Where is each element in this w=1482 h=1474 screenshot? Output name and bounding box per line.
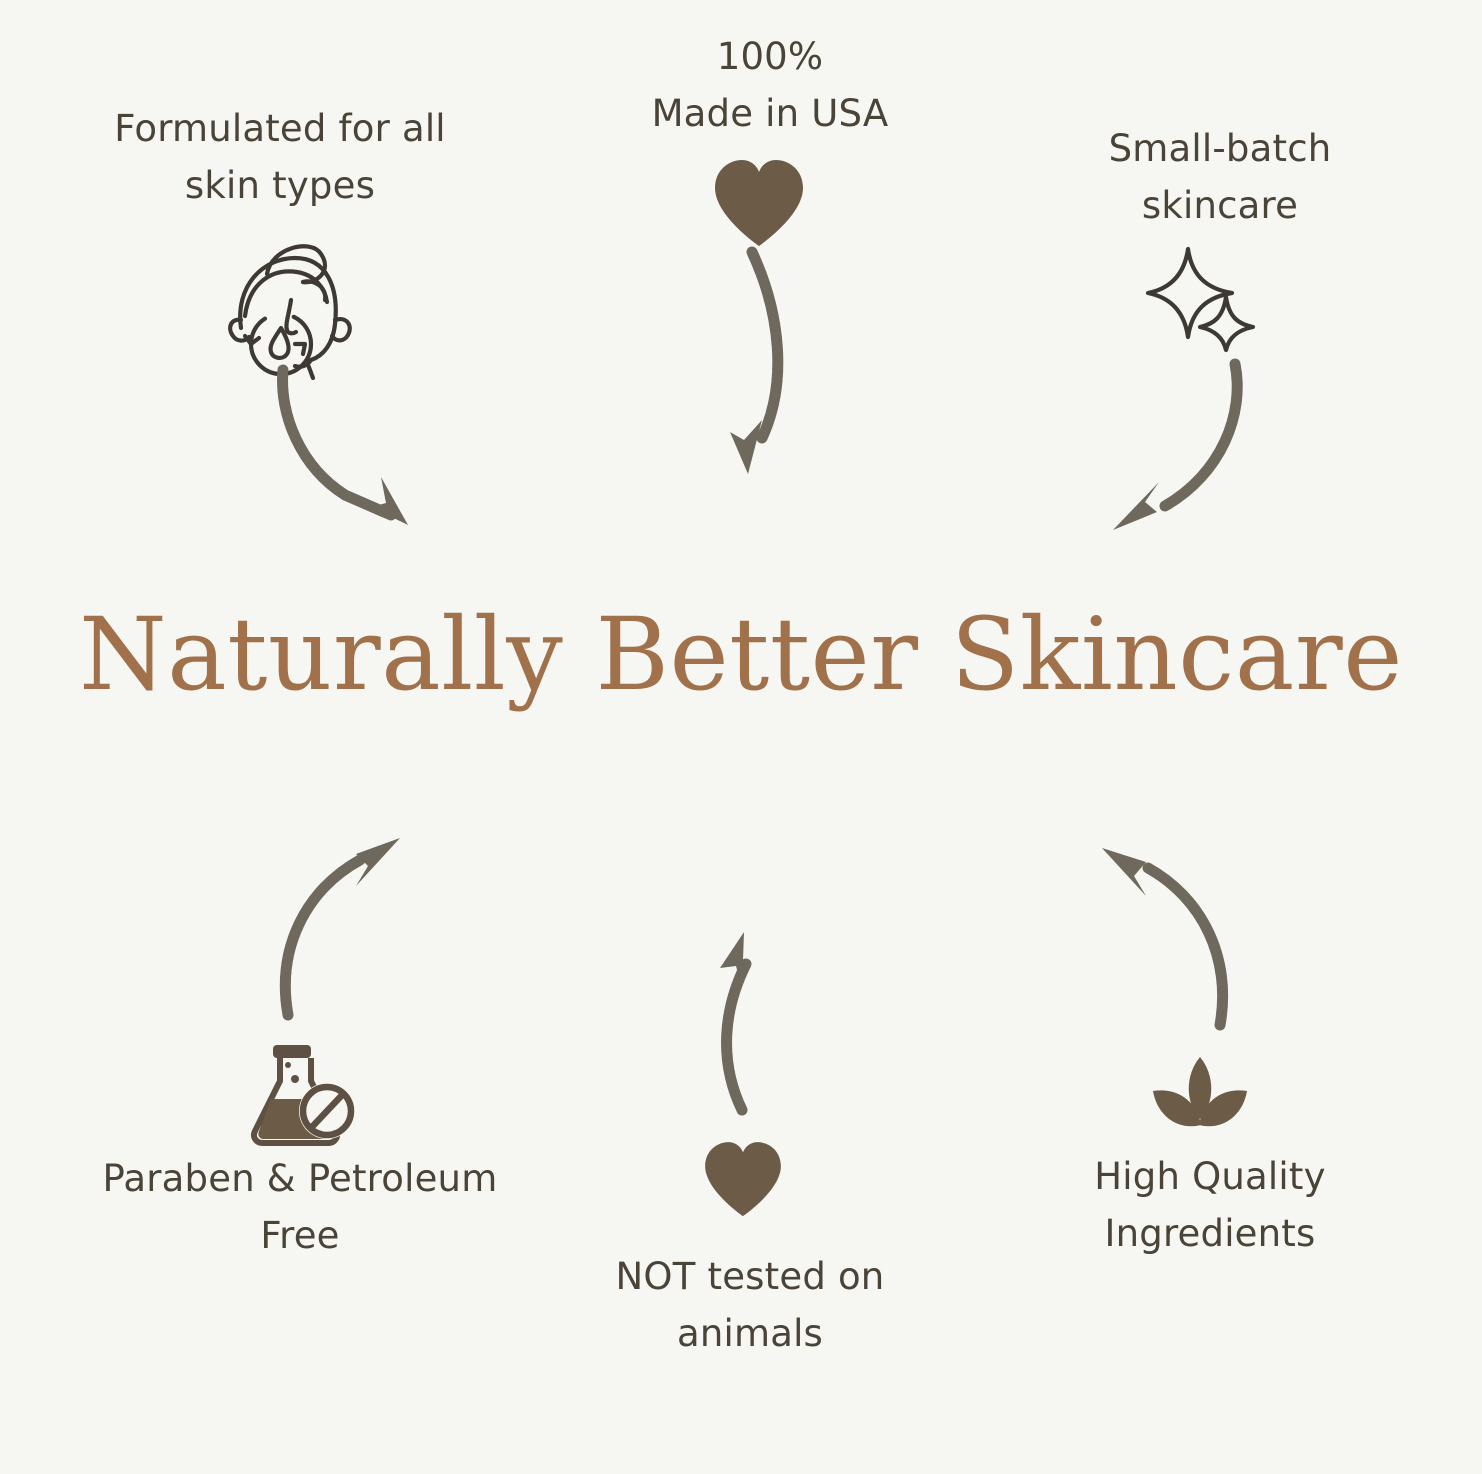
- feature-label-small-batch-skincare: Small-batch skincare: [1020, 120, 1420, 235]
- curved-arrow-up-icon: [688, 920, 808, 1125]
- sparkle-icon: [1150, 245, 1260, 350]
- curved-arrow-down-left-icon: [1085, 350, 1285, 555]
- page-title: Naturally Better Skincare: [0, 600, 1482, 710]
- feature-label-high-quality-ingredients: High Quality Ingredients: [1010, 1148, 1410, 1263]
- flask-prohibited-icon: [248, 1043, 360, 1147]
- infographic-canvas: Formulated for all skin types: [0, 0, 1482, 1474]
- curved-arrow-down-icon: [700, 242, 840, 492]
- curved-arrow-down-right-icon: [245, 355, 455, 545]
- heart-icon: [709, 158, 809, 250]
- leaf-trio-icon: [1143, 1053, 1257, 1145]
- heart-icon: [700, 1140, 786, 1220]
- feature-label-paraben-petroleum-free: Paraben & Petroleum Free: [50, 1150, 550, 1265]
- curved-arrow-up-left-icon: [1068, 830, 1258, 1055]
- feature-label-not-tested-on-animals: NOT tested on animals: [540, 1248, 960, 1363]
- feature-label-formulated-all-skin-types: Formulated for all skin types: [60, 100, 500, 215]
- curved-arrow-up-right-icon: [250, 820, 440, 1045]
- feature-label-made-in-usa: 100% Made in USA: [560, 28, 980, 143]
